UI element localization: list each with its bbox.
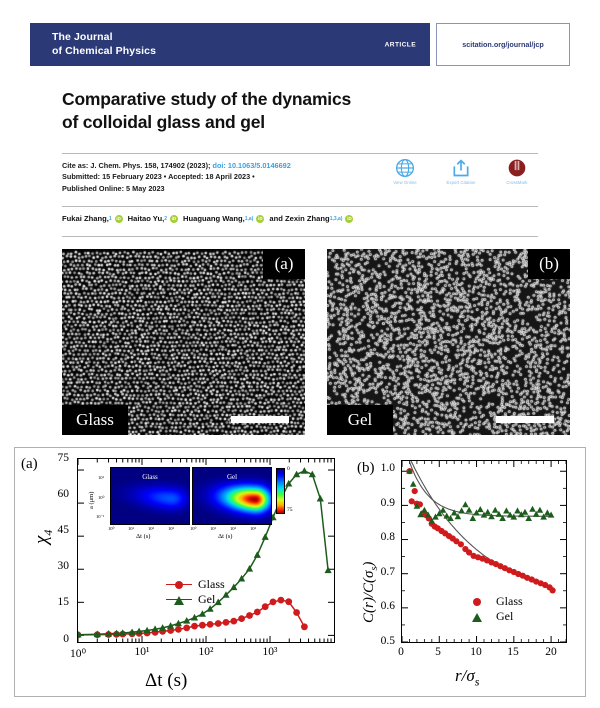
chi4-axes: Glass Gel a (μm) Δt (s) Δt (s) 10¹ 10⁰ 1… [77, 458, 335, 643]
inset-ytick-1: 10⁰ [98, 495, 104, 501]
inset-xtick-b0: 10⁰ [190, 526, 196, 532]
chi4-xtick-2: 10² [193, 646, 219, 658]
legend-label-gel: Gel [198, 592, 215, 607]
chi4-ytick-0: 0 [35, 633, 69, 645]
inset-ytick-2: 10¹ [98, 475, 104, 480]
corr-ytick-2: 0.7 [359, 566, 395, 578]
inset-colorbar [276, 468, 285, 514]
scale-bar-b [496, 416, 554, 423]
crossmark-label: CrossMark [506, 180, 527, 185]
corr-ytick-1: 0.6 [359, 600, 395, 612]
legend-key-gel-b [464, 611, 490, 623]
page-title: Comparative study of the dynamics of col… [62, 88, 492, 134]
legend-label-glass-b: Glass [496, 594, 523, 609]
inset-xtick-b1: 10¹ [210, 526, 216, 531]
export-citation-label: Export Citation [447, 180, 476, 185]
author-list: Fukai Zhang,1 Haitao Yu,2 Huaguang Wang,… [62, 214, 358, 223]
export-citation-icon [451, 158, 471, 178]
legend-item-gel: Gel [166, 592, 225, 607]
orcid-icon[interactable] [115, 215, 123, 223]
journal-brand-bar: The Journal of Chemical Physics ARTICLE [30, 23, 430, 66]
crossmark-action[interactable]: CrossMark [496, 158, 538, 185]
correlation-x-axis-title: r/σs [455, 666, 479, 689]
corr-xtick-1: 5 [428, 646, 448, 658]
legend-label-glass: Glass [198, 577, 225, 592]
inset-heatmap-gel: Gel [192, 467, 272, 525]
legend-key-gel [166, 594, 192, 606]
journal-url-box[interactable]: scitation.org/journal/jcp [436, 23, 570, 66]
micrograph-gel: (b) Gel [327, 249, 570, 435]
micrograph-panel-label-b: (b) [528, 249, 570, 279]
submitted-accepted-text: Submitted: 15 February 2023 • Accepted: … [62, 171, 402, 182]
article-type-tag: ARTICLE [385, 41, 416, 48]
inset-ytick-0: 10⁻¹ [96, 514, 104, 520]
inset-xtick-a3: 10³ [168, 526, 174, 531]
export-citation-action[interactable]: Export Citation [440, 158, 482, 185]
chi4-inset: Glass Gel a (μm) Δt (s) Δt (s) 10¹ 10⁰ 1… [110, 467, 278, 541]
globe-icon [395, 158, 415, 178]
journal-header: The Journal of Chemical Physics ARTICLE … [30, 23, 570, 66]
correlation-axes: Glass Gel [401, 460, 567, 643]
inset-y-axis-title: a (μm) [88, 492, 95, 509]
chi4-ytick-60: 60 [35, 488, 69, 500]
published-online-text: Published Online: 5 May 2023 [62, 183, 402, 194]
colorbar-min-label: 0 [287, 466, 290, 472]
orcid-icon[interactable] [345, 215, 353, 223]
inset-x-axis-title-2: Δt (s) [218, 533, 232, 540]
author-name-1[interactable]: Haitao Yu, [128, 214, 165, 223]
divider-bottom [62, 236, 538, 237]
view-online-label: View Online [393, 180, 416, 185]
colorbar-max-label: 75 [287, 507, 293, 513]
author-affil-2: 1,a) [245, 216, 254, 222]
legend-label-gel-b: Gel [496, 609, 513, 624]
inset-xtick-b2: 10² [230, 526, 236, 531]
view-online-action[interactable]: View Online [384, 158, 426, 185]
inset-xtick-a2: 10² [148, 526, 154, 531]
author-affil-0: 1 [109, 216, 112, 222]
chi4-xtick-0: 10⁰ [65, 646, 91, 660]
divider-middle [62, 206, 538, 207]
corr-xtick-2: 10 [466, 646, 486, 658]
inset-x-axis-title-1: Δt (s) [136, 533, 150, 540]
corr-xtick-0: 0 [391, 646, 411, 658]
inset-xtick-a0: 10⁰ [108, 526, 114, 532]
corr-ytick-5: 1.0 [359, 462, 395, 474]
chi4-ytick-30: 30 [35, 560, 69, 572]
author-name-3[interactable]: and Zexin Zhang [269, 214, 329, 223]
orcid-icon[interactable] [256, 215, 264, 223]
correlation-legend: Glass Gel [464, 594, 523, 624]
inset-heatmap-glass: Glass [110, 467, 190, 525]
inset-xtick-a1: 10¹ [128, 526, 134, 531]
journal-title-line2: of Chemical Physics [52, 45, 430, 58]
figure-2: (a) χ4 Δt (s) Glass Gel a (μm) Δt (s) [14, 447, 586, 697]
author-affil-3: 1,3,a) [330, 216, 343, 222]
chi4-xtick-1: 10¹ [129, 646, 155, 658]
chi4-plot: (a) χ4 Δt (s) Glass Gel a (μm) Δt (s) [15, 448, 351, 698]
orcid-icon[interactable] [170, 215, 178, 223]
micrograph-material-label-b: Gel [327, 405, 393, 435]
legend-key-glass-b [464, 596, 490, 608]
title-line-2: of colloidal glass and gel [62, 111, 492, 134]
inset-heatmap-gel-label: Gel [193, 473, 271, 481]
author-name-0[interactable]: Fukai Zhang, [62, 214, 109, 223]
chi4-ytick-15: 15 [35, 596, 69, 608]
legend-item-glass-b: Glass [464, 594, 523, 609]
cite-as-text: Cite as: J. Chem. Phys. 158, 174902 (202… [62, 161, 210, 170]
article-page: The Journal of Chemical Physics ARTICLE … [0, 0, 600, 708]
legend-key-glass [166, 579, 192, 591]
citation-block: Cite as: J. Chem. Phys. 158, 174902 (202… [62, 160, 402, 194]
chi4-legend: Glass Gel [166, 577, 225, 607]
legend-item-gel-b: Gel [464, 609, 523, 624]
micrograph-glass: (a) Glass [62, 249, 305, 435]
journal-title-line1: The Journal [52, 31, 430, 44]
chi4-xtick-3: 10³ [257, 646, 283, 658]
author-affil-1: 2 [164, 216, 167, 222]
doi-link[interactable]: doi: 10.1063/5.0146692 [212, 161, 290, 170]
inset-xtick-b3: 10³ [250, 526, 256, 531]
micrograph-panel-label-a: (a) [263, 249, 305, 279]
crossmark-icon [507, 158, 527, 178]
chi4-ytick-75: 75 [35, 452, 69, 464]
scale-bar-a [231, 416, 289, 423]
legend-item-glass: Glass [166, 577, 225, 592]
corr-ytick-3: 0.8 [359, 531, 395, 543]
micrograph-material-label-a: Glass [62, 405, 128, 435]
corr-ytick-0: 0.5 [359, 635, 395, 647]
title-line-1: Comparative study of the dynamics [62, 88, 492, 111]
author-name-2[interactable]: Huaguang Wang, [183, 214, 245, 223]
chi4-x-axis-title: Δt (s) [145, 670, 187, 692]
corr-ytick-4: 0.9 [359, 497, 395, 509]
divider-top [62, 153, 538, 154]
corr-xtick-4: 20 [541, 646, 561, 658]
article-actions: View Online Export Citation CrossMark [384, 158, 538, 185]
chi4-ytick-45: 45 [35, 524, 69, 536]
correlation-plot: (b) C(r)/C(σs) r/σs Glass Gel [355, 448, 587, 698]
corr-xtick-3: 15 [503, 646, 523, 658]
inset-heatmap-glass-label: Glass [111, 473, 189, 481]
